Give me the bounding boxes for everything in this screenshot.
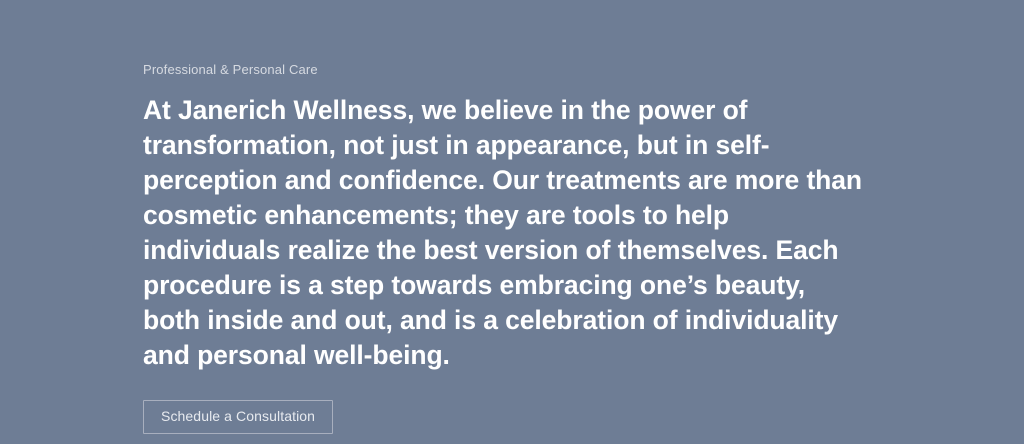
schedule-consultation-button[interactable]: Schedule a Consultation [143,400,333,434]
hero-eyebrow: Professional & Personal Care [143,60,883,80]
hero-cta-container: Schedule a Consultation [143,400,883,434]
hero-content: Professional & Personal Care At Janerich… [143,60,883,434]
hero-headline: At Janerich Wellness, we believe in the … [143,93,869,373]
hero-section: Professional & Personal Care At Janerich… [0,0,1024,444]
